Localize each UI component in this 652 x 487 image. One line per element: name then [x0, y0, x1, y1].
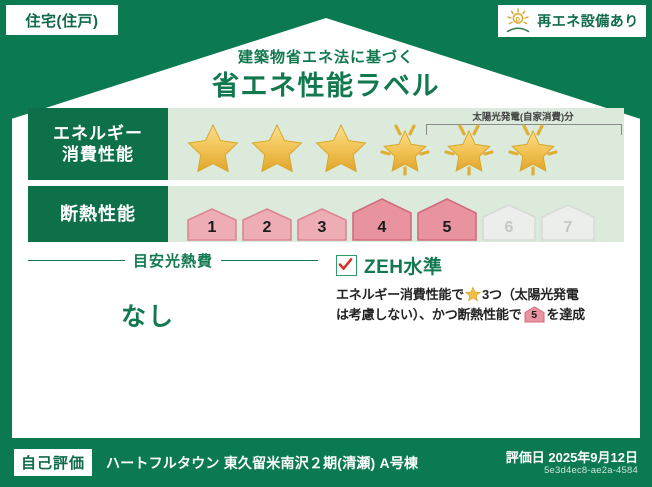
- star-solar-icon: [438, 118, 500, 176]
- utility-cost-value: なし: [28, 297, 268, 333]
- energy-label-line2: 消費性能: [62, 144, 134, 165]
- energy-rating-area: 太陽光発電(自家消費)分: [168, 108, 624, 180]
- insulation-level-badge: 7: [540, 202, 596, 242]
- zeh-desc-badge-number: 5: [524, 307, 545, 323]
- insulation-level-badge: 6: [481, 202, 537, 242]
- energy-performance-row: エネルギー 消費性能 太陽光発電(自家消費)分: [28, 108, 624, 180]
- insulation-level-badge: 4: [351, 196, 413, 242]
- insulation-level-scale: 1 2 3 4 5: [168, 186, 596, 242]
- energy-performance-label: 住宅(住戸) D 再エネ設備あり 建築物省エ: [0, 0, 652, 487]
- divider-right: [221, 260, 318, 261]
- zeh-heading: ZEH水準: [336, 252, 628, 279]
- insulation-rating-area: 1 2 3 4 5: [168, 186, 624, 242]
- label-panel-content: 建築物省エネ法に基づく 省エネ性能ラベル エネルギー 消費性能 太陽光発電(自家…: [18, 26, 634, 432]
- insulation-level-inline-badge: 5: [524, 306, 545, 323]
- zeh-desc-stars: 3つ（太陽光発電: [482, 287, 579, 302]
- evaluation-date: 評価日 2025年9月12日: [506, 447, 638, 466]
- zeh-title: ZEH水準: [364, 252, 443, 279]
- zeh-standard-block: ZEH水準 エネルギー消費性能で3つ（太陽光発電は考慮しない）、かつ断熱性能で5…: [336, 252, 628, 325]
- insulation-level-badge: 1: [186, 206, 238, 242]
- project-name: ハートフルタウン 東久留米南沢２期(清瀬) A号棟: [106, 453, 418, 473]
- star-icon: [182, 118, 244, 176]
- insulation-level-number: 7: [540, 219, 596, 237]
- zeh-desc-part3: を達成: [547, 307, 585, 322]
- insulation-level-number: 3: [296, 219, 348, 237]
- self-evaluation-badge: 自己評価: [14, 449, 92, 476]
- insulation-level-number: 4: [351, 219, 413, 237]
- star-solar-icon: [374, 118, 436, 176]
- label-id: 5e3d4ec8-ae2a-4584: [544, 465, 638, 476]
- energy-label-line1: エネルギー: [53, 123, 143, 144]
- star-solar-icon: [502, 118, 564, 176]
- zeh-checkbox[interactable]: [336, 255, 357, 276]
- insulation-level-number: 1: [186, 219, 238, 237]
- utility-cost-heading: 目安光熱費: [28, 250, 318, 271]
- svg-text:D: D: [516, 17, 521, 23]
- page-title: 省エネ性能ラベル: [18, 64, 634, 103]
- insulation-label-text: 断熱性能: [60, 203, 136, 226]
- utility-cost-block: 目安光熱費 なし: [28, 250, 318, 333]
- insulation-performance-label: 断熱性能: [28, 186, 168, 242]
- divider-left: [28, 260, 125, 261]
- energy-performance-label: エネルギー 消費性能: [28, 108, 168, 180]
- star-icon: [465, 286, 481, 302]
- insulation-level-badge: 3: [296, 206, 348, 242]
- insulation-level-badge: 5: [416, 196, 478, 242]
- star-icon: [246, 118, 308, 176]
- insulation-level-number: 5: [416, 219, 478, 237]
- zeh-desc-part2: は考慮しない）、かつ断熱性能で: [336, 307, 522, 322]
- zeh-description: エネルギー消費性能で3つ（太陽光発電は考慮しない）、かつ断熱性能で5を達成: [336, 285, 628, 325]
- insulation-level-number: 2: [241, 219, 293, 237]
- insulation-level-badge: 2: [241, 206, 293, 242]
- footer: 自己評価 ハートフルタウン 東久留米南沢２期(清瀬) A号棟 評価日 2025年…: [0, 438, 652, 487]
- utility-cost-heading-text: 目安光熱費: [133, 250, 213, 271]
- energy-star-rating: [168, 118, 564, 176]
- star-icon: [310, 118, 372, 176]
- insulation-level-number: 6: [481, 219, 537, 237]
- insulation-performance-row: 断熱性能 1 2 3: [28, 186, 624, 242]
- zeh-desc-part1: エネルギー消費性能で: [336, 287, 464, 302]
